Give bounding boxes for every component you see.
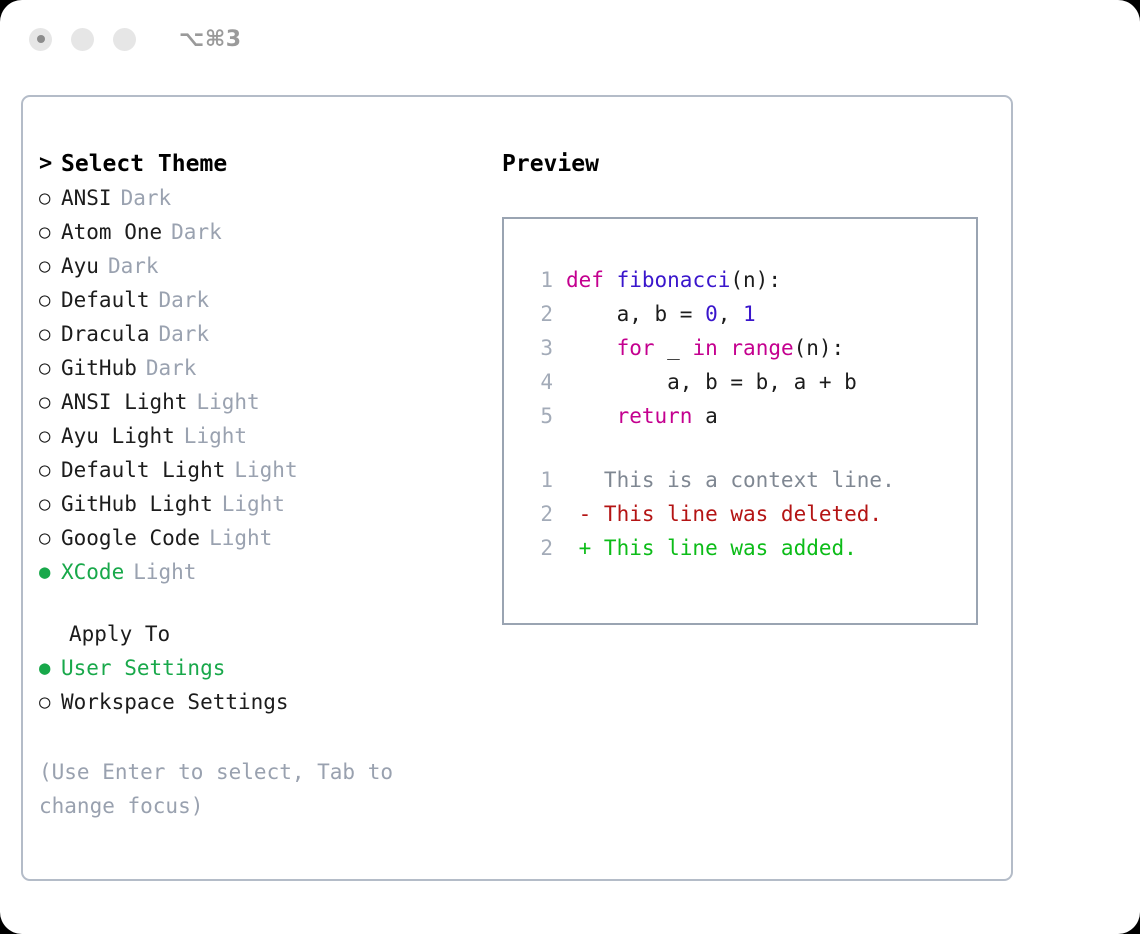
code-line-number: 4 bbox=[527, 370, 553, 394]
radio-unselected-icon: ○ bbox=[39, 359, 61, 378]
code-token-kw: range bbox=[730, 336, 793, 360]
select-theme-header: >Select Theme bbox=[39, 147, 499, 181]
title-bar: ⌥⌘3 bbox=[0, 0, 1140, 78]
diff-line: 1 This is a context line. bbox=[504, 463, 976, 497]
theme-option-ayu[interactable]: ○AyuDark bbox=[39, 249, 499, 283]
theme-variant-badge: Dark bbox=[146, 356, 197, 380]
apply-to-label: Workspace Settings bbox=[61, 690, 289, 714]
diff-line-number: 2 bbox=[527, 536, 553, 560]
diff-line-number: 2 bbox=[527, 502, 553, 526]
diff-sample: 1 This is a context line.2 - This line w… bbox=[504, 463, 976, 565]
radio-selected-icon: ● bbox=[39, 659, 61, 678]
apply-to-list: ●User Settings○Workspace Settings bbox=[39, 651, 499, 719]
radio-unselected-icon: ○ bbox=[39, 461, 61, 480]
theme-variant-badge: Light bbox=[133, 560, 196, 584]
theme-variant-badge: Light bbox=[222, 492, 285, 516]
apply-to-header: Apply To bbox=[39, 617, 499, 651]
radio-unselected-icon: ○ bbox=[39, 427, 61, 446]
code-token-num: 0 bbox=[705, 302, 718, 326]
code-token-kw: in bbox=[692, 336, 717, 360]
diff-line: 2 + This line was added. bbox=[504, 531, 976, 565]
radio-unselected-icon: ○ bbox=[39, 189, 61, 208]
code-line: 2 a, b = 0, 1 bbox=[504, 297, 976, 331]
code-line: 4 a, b = b, a + b bbox=[504, 365, 976, 399]
window-close-button[interactable] bbox=[29, 28, 52, 51]
apply-to-label: User Settings bbox=[61, 656, 225, 680]
preview-header: Preview bbox=[502, 147, 1002, 181]
code-token-fn: fibonacci bbox=[617, 268, 731, 292]
theme-variant-badge: Light bbox=[209, 526, 272, 550]
theme-option-ansi[interactable]: ○ANSIDark bbox=[39, 181, 499, 215]
radio-unselected-icon: ○ bbox=[39, 257, 61, 276]
theme-variant-badge: Light bbox=[196, 390, 259, 414]
code-token-plain: (n): bbox=[730, 268, 781, 292]
radio-unselected-icon: ○ bbox=[39, 291, 61, 310]
code-token-kw: for bbox=[617, 336, 655, 360]
radio-unselected-icon: ○ bbox=[39, 495, 61, 514]
code-token-plain: a bbox=[692, 404, 717, 428]
radio-unselected-icon: ○ bbox=[39, 325, 61, 344]
keyboard-shortcut-label: ⌥⌘3 bbox=[179, 27, 242, 52]
theme-variant-badge: Dark bbox=[159, 322, 210, 346]
theme-option-github-light[interactable]: ○GitHub LightLight bbox=[39, 487, 499, 521]
theme-variant-badge: Dark bbox=[159, 288, 210, 312]
code-token-plain: (n): bbox=[794, 336, 845, 360]
active-dot-icon bbox=[37, 35, 45, 43]
theme-name: ANSI bbox=[61, 186, 112, 210]
code-token-plain: a, b = bbox=[566, 302, 705, 326]
theme-variant-badge: Dark bbox=[108, 254, 159, 278]
radio-unselected-icon: ○ bbox=[39, 529, 61, 548]
select-theme-title: Select Theme bbox=[61, 151, 227, 177]
code-token-plain bbox=[566, 404, 617, 428]
code-token-plain bbox=[604, 268, 617, 292]
theme-option-default-light[interactable]: ○Default LightLight bbox=[39, 453, 499, 487]
code-token-plain: , bbox=[718, 302, 743, 326]
code-line-number: 1 bbox=[527, 268, 553, 292]
keyboard-hint-text: (Use Enter to select, Tab to change focu… bbox=[39, 755, 439, 823]
radio-unselected-icon: ○ bbox=[39, 223, 61, 242]
code-line-text: a, b = 0, 1 bbox=[566, 302, 756, 326]
theme-list: ○ANSIDark○Atom OneDark○AyuDark○DefaultDa… bbox=[39, 181, 499, 589]
apply-to-option-user-settings[interactable]: ●User Settings bbox=[39, 651, 499, 685]
theme-name: Atom One bbox=[61, 220, 162, 244]
code-line-number: 3 bbox=[527, 336, 553, 360]
theme-option-ayu-light[interactable]: ○Ayu LightLight bbox=[39, 419, 499, 453]
code-token-plain: _ bbox=[655, 336, 693, 360]
theme-variant-badge: Light bbox=[234, 458, 297, 482]
app-window: ⌥⌘3 >Select Theme ○ANSIDark○Atom OneDark… bbox=[0, 0, 1140, 934]
code-token-plain bbox=[718, 336, 731, 360]
prompt-caret-icon: > bbox=[39, 153, 61, 175]
theme-option-dracula[interactable]: ○DraculaDark bbox=[39, 317, 499, 351]
code-line-number: 2 bbox=[527, 302, 553, 326]
theme-name: Ayu bbox=[61, 254, 99, 278]
code-token-num: 1 bbox=[743, 302, 756, 326]
theme-option-github[interactable]: ○GitHubDark bbox=[39, 351, 499, 385]
code-line-text: for _ in range(n): bbox=[566, 336, 844, 360]
code-token-kw: def bbox=[566, 268, 604, 292]
main-panel: >Select Theme ○ANSIDark○Atom OneDark○Ayu… bbox=[21, 95, 1013, 881]
traffic-lights bbox=[29, 28, 136, 51]
theme-variant-badge: Light bbox=[184, 424, 247, 448]
code-line: 5 return a bbox=[504, 399, 976, 433]
apply-to-section: Apply To ●User Settings○Workspace Settin… bbox=[39, 617, 499, 719]
apply-to-option-workspace-settings[interactable]: ○Workspace Settings bbox=[39, 685, 499, 719]
theme-name: XCode bbox=[61, 560, 124, 584]
theme-option-xcode[interactable]: ●XCodeLight bbox=[39, 555, 499, 589]
diff-line-text-ctx: This is a context line. bbox=[566, 468, 895, 492]
theme-option-atom-one[interactable]: ○Atom OneDark bbox=[39, 215, 499, 249]
theme-name: Google Code bbox=[61, 526, 200, 550]
theme-name: GitHub bbox=[61, 356, 137, 380]
diff-line: 2 - This line was deleted. bbox=[504, 497, 976, 531]
theme-name: Ayu Light bbox=[61, 424, 175, 448]
diff-line-text-add: + This line was added. bbox=[566, 536, 857, 560]
window-maximize-button[interactable] bbox=[113, 28, 136, 51]
theme-selector-column: >Select Theme ○ANSIDark○Atom OneDark○Ayu… bbox=[39, 147, 499, 823]
theme-variant-badge: Dark bbox=[121, 186, 172, 210]
radio-unselected-icon: ○ bbox=[39, 693, 61, 712]
preview-column: Preview 1def fibonacci(n):2 a, b = 0, 13… bbox=[502, 147, 1002, 625]
theme-name: ANSI Light bbox=[61, 390, 187, 414]
code-line: 1def fibonacci(n): bbox=[504, 263, 976, 297]
window-minimize-button[interactable] bbox=[71, 28, 94, 51]
code-line-text: return a bbox=[566, 404, 718, 428]
code-line: 3 for _ in range(n): bbox=[504, 331, 976, 365]
theme-name: Dracula bbox=[61, 322, 150, 346]
preview-spacer bbox=[504, 433, 976, 463]
code-line-text: a, b = b, a + b bbox=[566, 370, 857, 394]
theme-name: Default bbox=[61, 288, 150, 312]
code-line-text: def fibonacci(n): bbox=[566, 268, 781, 292]
radio-selected-icon: ● bbox=[39, 563, 61, 582]
code-line-number: 5 bbox=[527, 404, 553, 428]
theme-option-ansi-light[interactable]: ○ANSI LightLight bbox=[39, 385, 499, 419]
theme-option-default[interactable]: ○DefaultDark bbox=[39, 283, 499, 317]
code-token-plain: a, b = b, a + b bbox=[566, 370, 857, 394]
code-token-kw: return bbox=[617, 404, 693, 428]
theme-option-google-code[interactable]: ○Google CodeLight bbox=[39, 521, 499, 555]
theme-name: GitHub Light bbox=[61, 492, 213, 516]
diff-line-number: 1 bbox=[527, 468, 553, 492]
theme-name: Default Light bbox=[61, 458, 225, 482]
radio-unselected-icon: ○ bbox=[39, 393, 61, 412]
code-sample: 1def fibonacci(n):2 a, b = 0, 13 for _ i… bbox=[504, 263, 976, 433]
code-token-plain bbox=[566, 336, 617, 360]
diff-line-text-del: - This line was deleted. bbox=[566, 502, 882, 526]
preview-box: 1def fibonacci(n):2 a, b = 0, 13 for _ i… bbox=[502, 217, 978, 625]
theme-variant-badge: Dark bbox=[171, 220, 222, 244]
